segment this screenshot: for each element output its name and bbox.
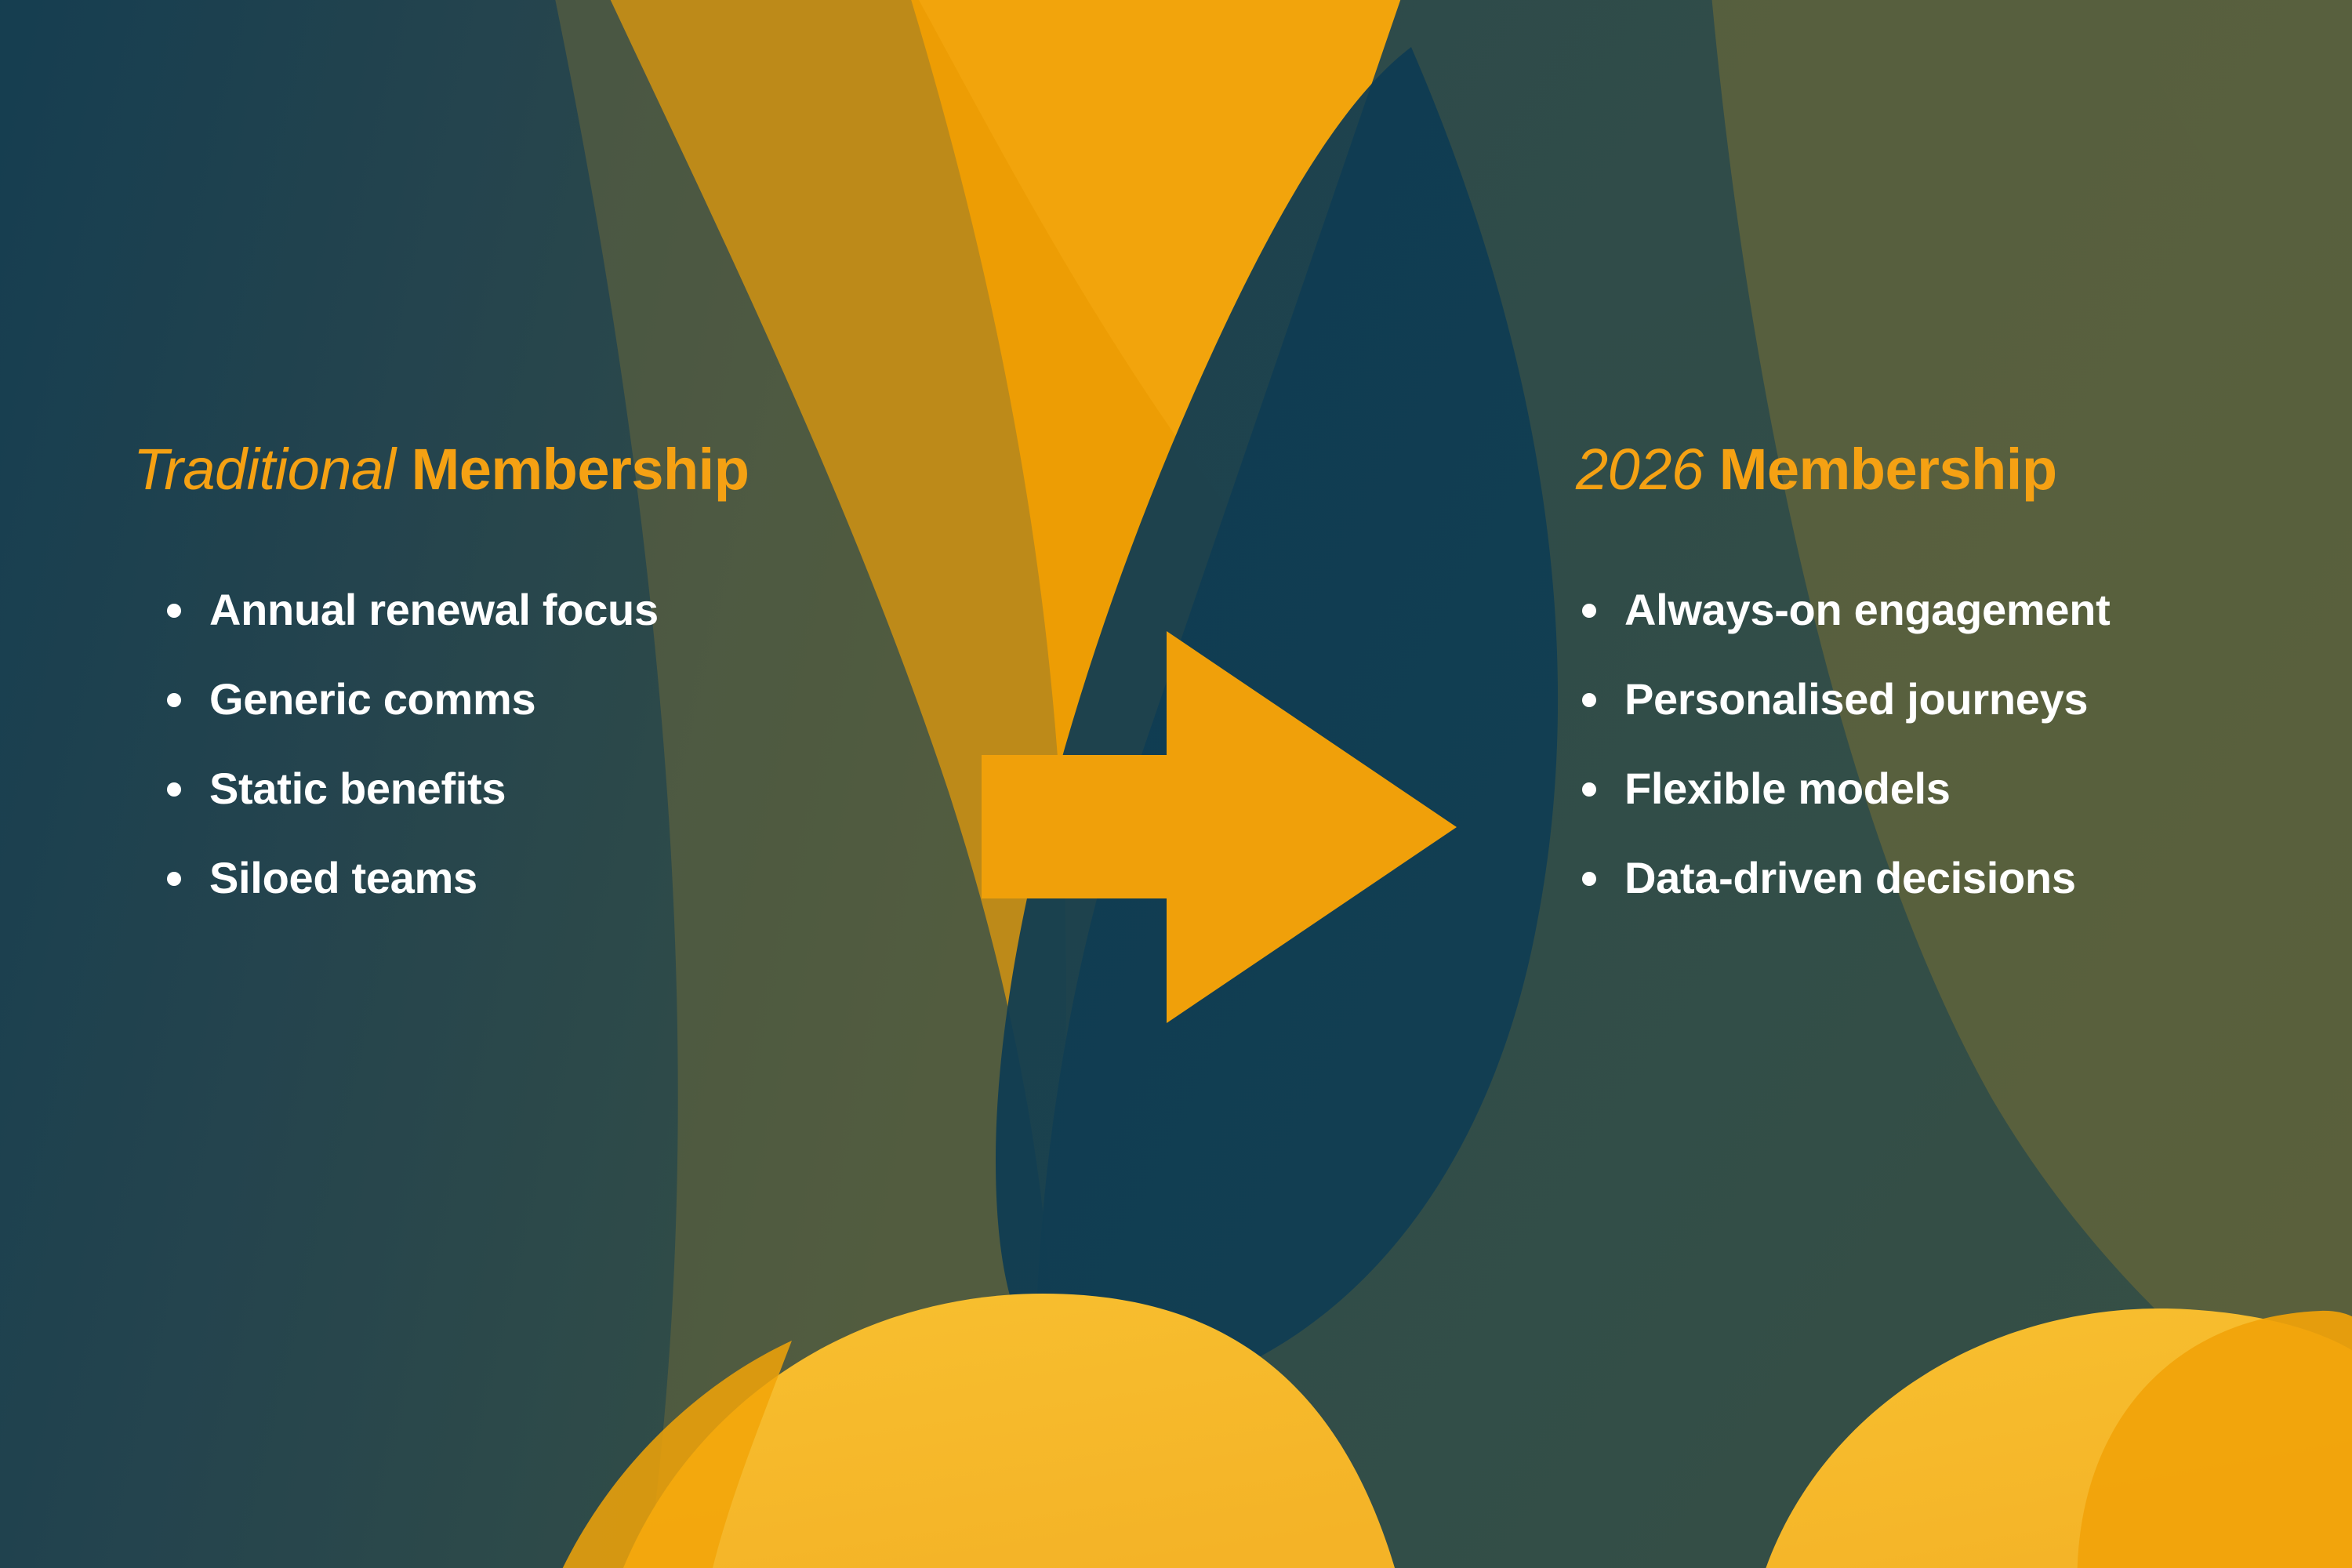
heading-traditional-membership: Traditional Membership (133, 441, 749, 499)
list-item: Personalised journeys (1568, 670, 2110, 759)
list-item: Siloed teams (153, 848, 659, 938)
list-item-label: Data-driven decisions (1624, 853, 2076, 902)
list-item: Static benefits (153, 759, 659, 848)
list-item-label: Flexible models (1624, 764, 1951, 813)
list-item-label: Annual renewal focus (209, 585, 659, 634)
bullet-list-traditional: Annual renewal focus Generic comms Stati… (153, 580, 659, 938)
heading-strong-membership-right: Membership (1719, 437, 2057, 502)
bullet-dot-icon (167, 782, 181, 797)
heading-emphasis-2026: 2026 (1576, 437, 1704, 502)
list-item: Flexible models (1568, 759, 2110, 848)
bullet-dot-icon (167, 604, 181, 618)
bullet-dot-icon (1582, 872, 1596, 886)
bullet-dot-icon (1582, 604, 1596, 618)
right-arrow-icon (972, 619, 1474, 1035)
list-item-label: Static benefits (209, 764, 506, 813)
transition-arrow (972, 619, 1474, 1035)
list-item: Always-on engagement (1568, 580, 2110, 670)
comparison-slide: Traditional Membership Annual renewal fo… (0, 0, 2352, 1568)
bullet-dot-icon (167, 693, 181, 707)
slide-content: Traditional Membership Annual renewal fo… (0, 0, 2352, 1568)
heading-2026-membership: 2026 Membership (1576, 441, 2057, 499)
list-item: Data-driven decisions (1568, 848, 2110, 938)
heading-emphasis-traditional: Traditional (133, 437, 396, 502)
list-item-label: Generic comms (209, 674, 535, 724)
list-item-label: Always-on engagement (1624, 585, 2110, 634)
bullet-list-2026: Always-on engagement Personalised journe… (1568, 580, 2110, 938)
list-item: Annual renewal focus (153, 580, 659, 670)
list-item-label: Personalised journeys (1624, 674, 2088, 724)
list-item-label: Siloed teams (209, 853, 477, 902)
list-item: Generic comms (153, 670, 659, 759)
bullet-dot-icon (167, 872, 181, 886)
heading-strong-membership-left: Membership (412, 437, 750, 502)
bullet-dot-icon (1582, 782, 1596, 797)
bullet-dot-icon (1582, 693, 1596, 707)
